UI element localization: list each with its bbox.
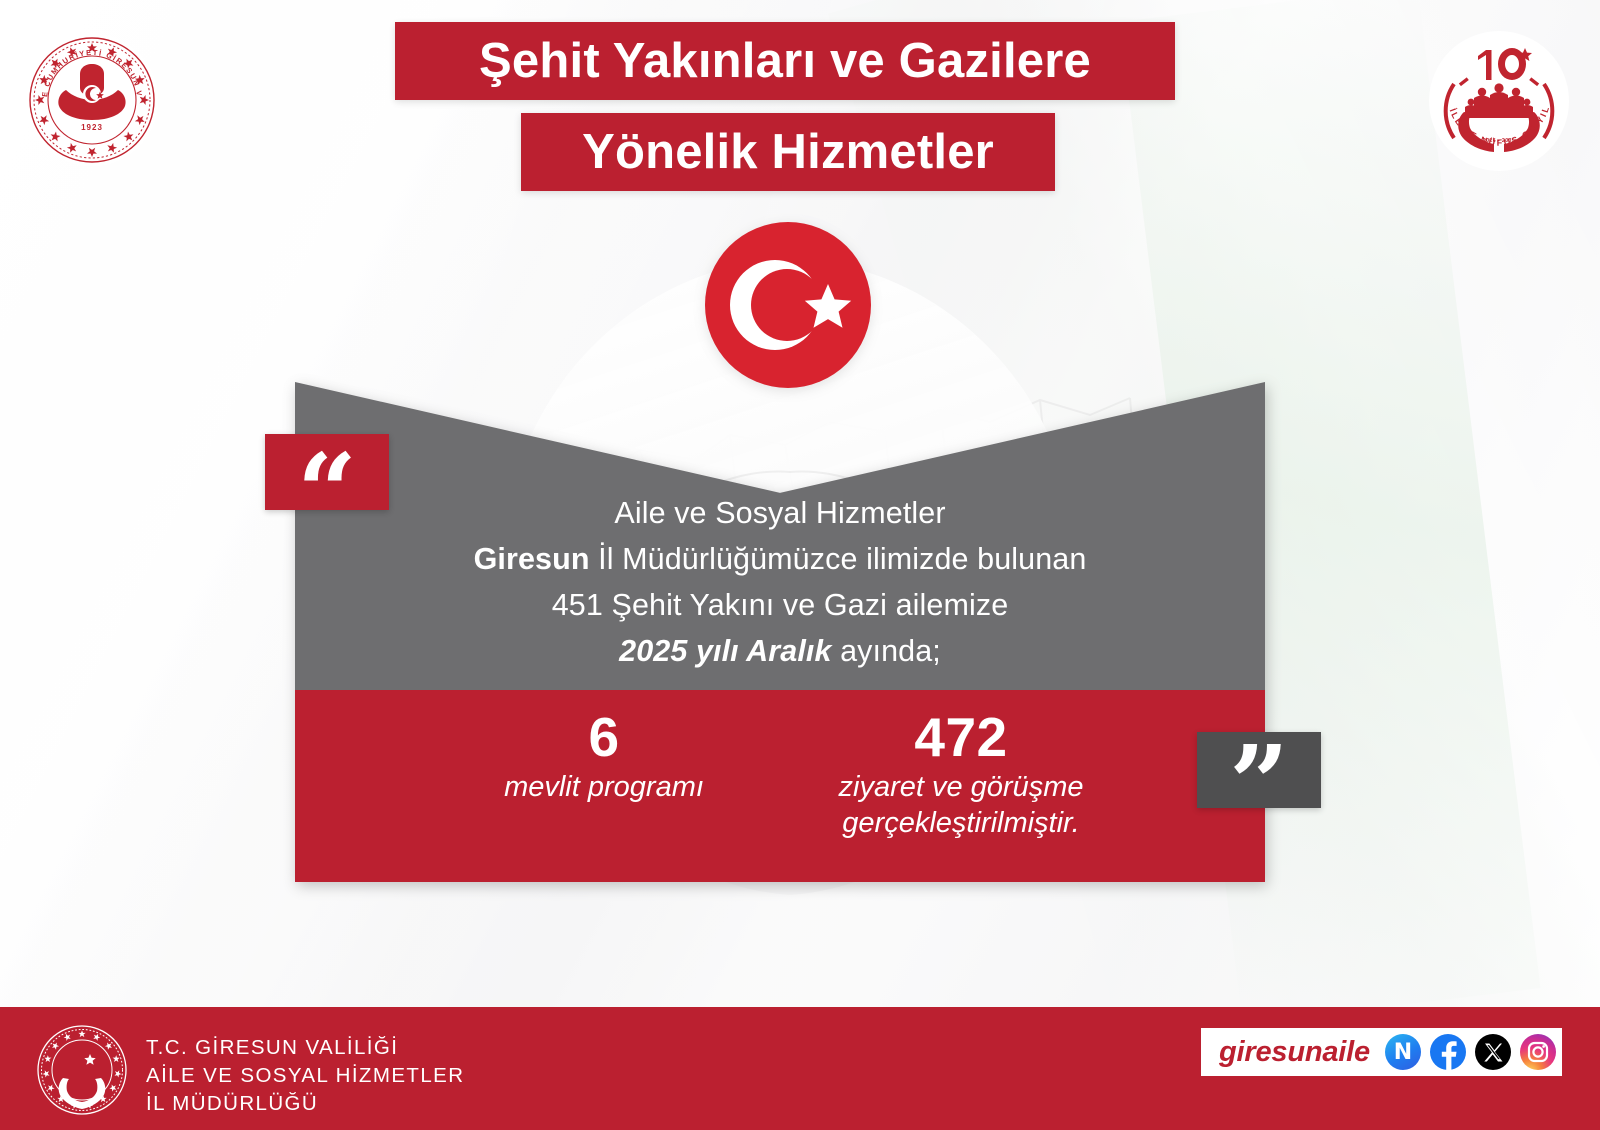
stat-mevlit-number: 6 [459,708,749,767]
quote-line-2-rest: İl Müdürlüğümüzce ilimizde bulunan [590,542,1087,576]
opening-quote-box: “ [265,434,389,510]
quote-line-4: 2025 yılı Aralık ayında; [295,628,1265,674]
quote-body: Aile ve Sosyal Hizmetler Giresun İl Müdü… [295,490,1265,674]
stat-ziyaret-number: 472 [816,708,1106,767]
svg-text:1923: 1923 [81,123,103,132]
quote-line-2-bold: Giresun [474,542,590,576]
social-media-badge: giresunaile N [1201,1028,1562,1076]
social-handle: giresunaile [1219,1036,1370,1069]
facebook-icon[interactable] [1430,1034,1466,1070]
footer-line-2: AİLE VE SOSYAL HİZMETLER [146,1062,464,1090]
statistics-row: 6 mevlit programı 472 ziyaret ve görüşme… [295,698,1265,878]
quote-line-4-italic: 2025 yılı Aralık [619,634,831,668]
title-line-1: Şehit Yakınları ve Gazilere [395,22,1175,100]
stat-mevlit-caption: mevlit programı [459,769,749,805]
closing-quote-box: ” [1197,732,1321,808]
stat-mevlit-programi: 6 mevlit programı [459,708,749,805]
next-sosyal-letter: N [1394,1040,1412,1065]
title-line-2: Yönelik Hizmetler [521,113,1055,191]
x-twitter-icon[interactable] [1475,1034,1511,1070]
footer-line-3: İL MÜDÜRLÜĞÜ [146,1090,464,1118]
aile-ve-sosyal-hizmetler-bakanligi-logo [36,1024,128,1116]
quote-line-2: Giresun İl Müdürlüğümüzce ilimizde bulun… [295,536,1265,582]
quote-line-4-rest: ayında; [832,634,941,668]
infographic-poster: TÜRKİYE CUMHURİYETİ GİRESUN VALİLİĞİ 192… [0,0,1600,1130]
quote-line-3: 451 Şehit Yakını ve Gazi ailemize [295,582,1265,628]
turkish-flag-roundel [705,222,871,388]
quote-card: Aile ve Sosyal Hizmetler Giresun İl Müdü… [295,382,1265,882]
turkiye-cumhuriyeti-giresun-valiligi-seal: TÜRKİYE CUMHURİYETİ GİRESUN VALİLİĞİ 192… [22,30,162,170]
footer-organization-name: T.C. GİRESUN VALİLİĞİ AİLE VE SOSYAL HİZ… [146,1034,464,1118]
quote-line-1: Aile ve Sosyal Hizmetler [295,490,1265,536]
next-sosyal-icon[interactable]: N [1385,1034,1421,1070]
footer-line-1: T.C. GİRESUN VALİLİĞİ [146,1034,464,1062]
aile-ve-nufus-on-yili-logo: 2026 - 2035 AİLE VE NÜFUS ON YILI [1424,26,1574,176]
instagram-icon[interactable] [1520,1034,1556,1070]
stat-ziyaret-caption: ziyaret ve görüşme gerçekleştirilmiştir. [816,769,1106,841]
stat-ziyaret-gorusme: 472 ziyaret ve görüşme gerçekleştirilmiş… [816,708,1106,841]
